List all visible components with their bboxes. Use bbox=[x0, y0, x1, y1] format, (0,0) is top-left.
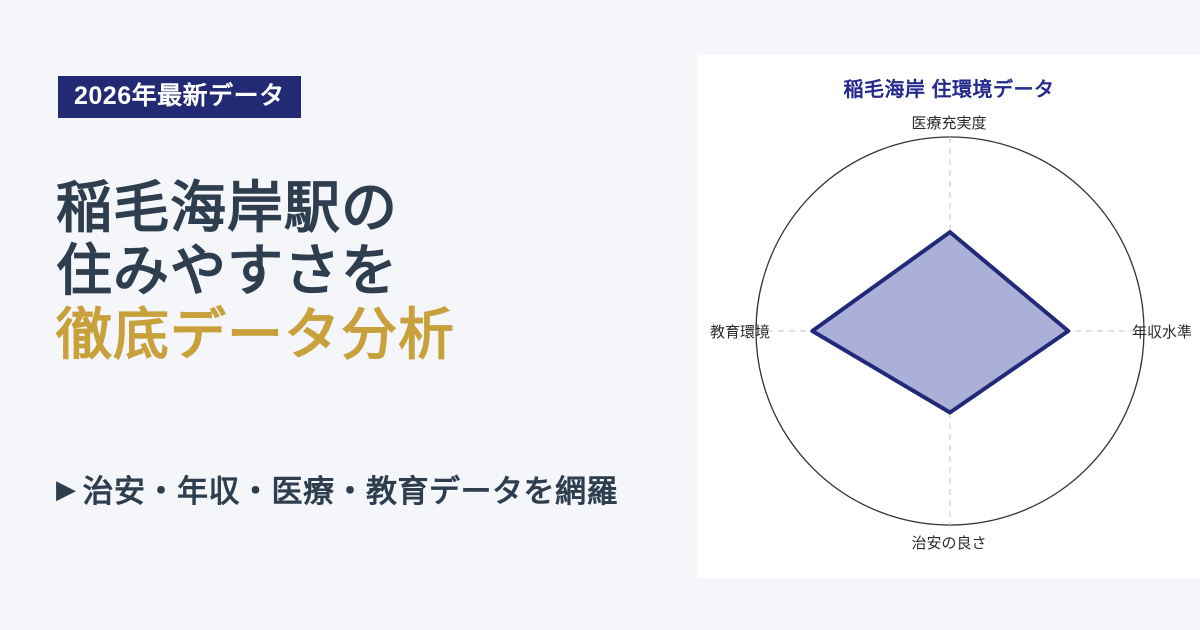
radar-chart-svg bbox=[698, 55, 1200, 578]
subtitle-text: 治安・年収・医療・教育データを網羅 bbox=[83, 466, 619, 511]
latest-data-badge: 2026年最新データ bbox=[58, 76, 301, 118]
radar-label-top: 医療充実度 bbox=[698, 112, 1200, 133]
subtitle: ▶ 治安・年収・医療・教育データを網羅 bbox=[56, 466, 618, 511]
page-title: 稲毛海岸駅の 住みやすさを 徹底データ分析 bbox=[56, 176, 696, 366]
poster-root: 2026年最新データ 稲毛海岸駅の 住みやすさを 徹底データ分析 ▶ 治安・年収… bbox=[0, 0, 1200, 630]
radar-label-left: 教育環境 bbox=[710, 321, 770, 342]
left-content-panel: 2026年最新データ 稲毛海岸駅の 住みやすさを 徹底データ分析 ▶ 治安・年収… bbox=[0, 0, 700, 630]
radar-label-right: 年収水準 bbox=[1132, 321, 1192, 342]
radar-data-polygon bbox=[812, 232, 1068, 412]
play-triangle-icon: ▶ bbox=[56, 476, 77, 502]
radar-chart-panel: 稲毛海岸 住環境データ 医療充実度 年収水準 治安の良さ 教育環境 bbox=[698, 55, 1200, 578]
headline-line-3: 徹底データ分析 bbox=[56, 303, 696, 366]
headline-line-2: 住みやすさを bbox=[56, 239, 696, 302]
headline-line-1: 稲毛海岸駅の bbox=[56, 176, 696, 239]
radar-label-bottom: 治安の良さ bbox=[698, 532, 1200, 553]
